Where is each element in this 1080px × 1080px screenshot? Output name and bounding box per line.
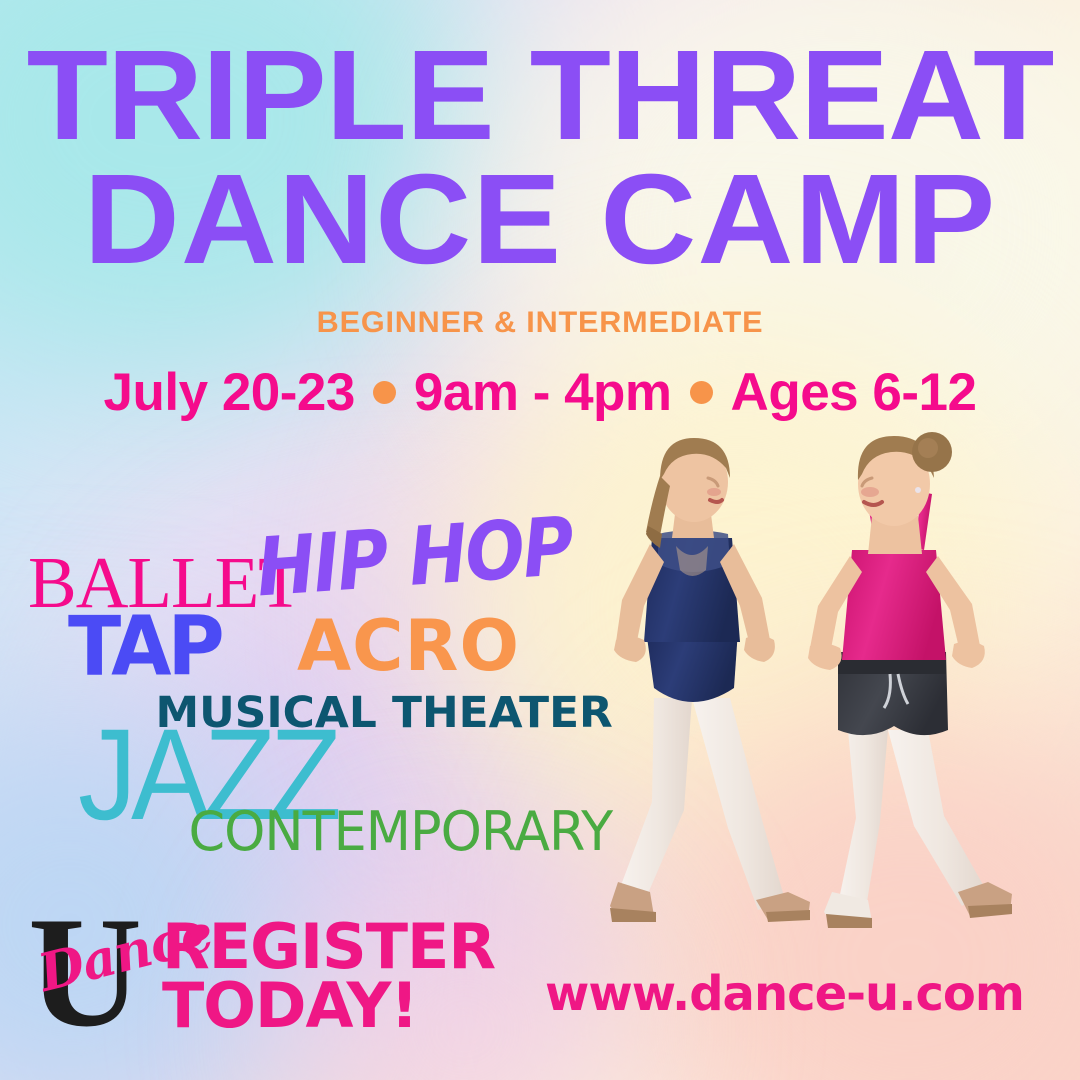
dancer-right	[808, 432, 1012, 928]
style-musical-theater: MUSICAL THEATER	[156, 688, 613, 738]
dance-u-logo[interactable]: U Dance	[28, 908, 178, 1030]
bullet-dot-icon	[690, 381, 713, 404]
dancers-photo	[580, 430, 1060, 950]
style-contemporary: CONTEMPORARY	[189, 800, 613, 863]
style-hip-hop: HIP HOP	[254, 499, 576, 615]
cta-line-2: TODAY!	[162, 977, 495, 1036]
website-url[interactable]: www.dance-u.com	[545, 966, 1024, 1022]
style-acro: ACRO	[297, 605, 520, 687]
dance-camp-flyer: TRIPLE THREAT DANCE CAMP BEGINNER & INTE…	[0, 0, 1080, 1080]
register-cta[interactable]: REGISTER TODAY!	[162, 918, 495, 1036]
camp-ages: Ages 6-12	[731, 362, 977, 423]
dancers-illustration	[580, 430, 1060, 950]
style-tap: TAP	[68, 600, 221, 695]
dancer-left	[610, 438, 810, 922]
